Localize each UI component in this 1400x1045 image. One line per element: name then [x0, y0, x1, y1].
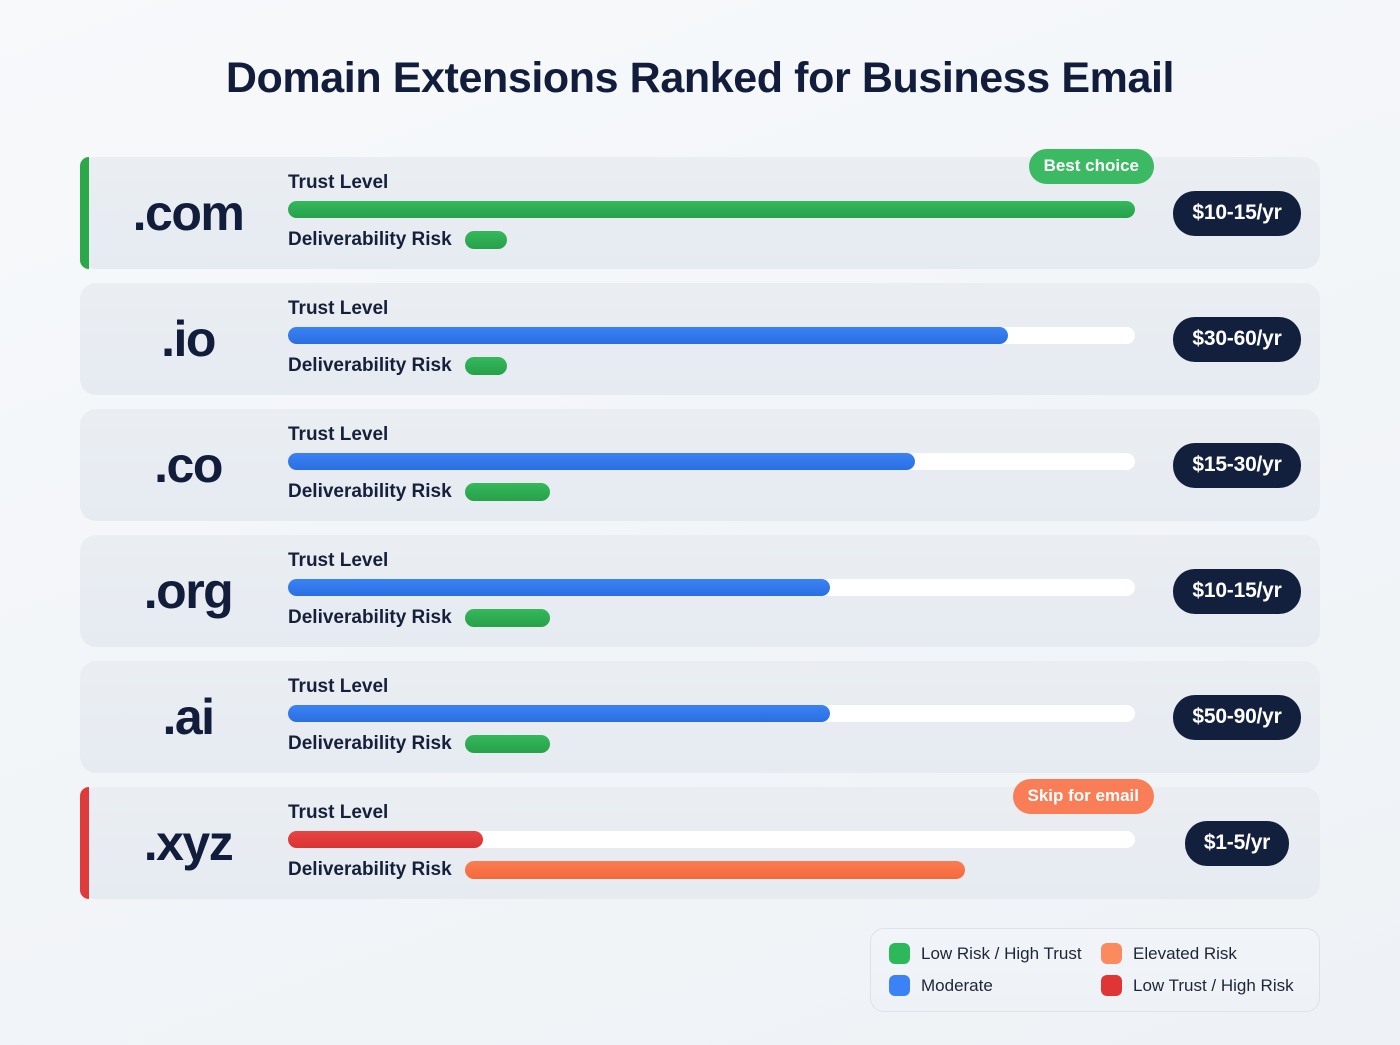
trust-level-track — [288, 705, 1135, 722]
deliverability-risk-label: Deliverability Risk — [288, 608, 452, 627]
trust-level-label: Trust Level — [288, 677, 1154, 696]
deliverability-risk-label: Deliverability Risk — [288, 482, 452, 501]
trust-level-label: Trust Level — [288, 425, 1154, 444]
domain-row: .io Trust Level Deliverability Risk $30-… — [80, 283, 1320, 395]
meters-group: Trust Level Deliverability Risk — [288, 283, 1154, 395]
legend-item: Elevated Risk — [1101, 943, 1301, 964]
price-wrap: $50-90/yr — [1154, 695, 1320, 740]
trust-level-track — [288, 327, 1135, 344]
legend-item-label: Moderate — [921, 977, 993, 994]
price-wrap: $10-15/yr — [1154, 191, 1320, 236]
deliverability-risk-fill — [465, 861, 965, 879]
trust-level-track — [288, 579, 1135, 596]
deliverability-risk-label: Deliverability Risk — [288, 356, 452, 375]
legend-box: Low Risk / High Trust Elevated Risk Mode… — [870, 928, 1320, 1012]
price-pill: $15-30/yr — [1173, 443, 1300, 488]
domain-row: .co Trust Level Deliverability Risk $15-… — [80, 409, 1320, 521]
infographic-page: Domain Extensions Ranked for Business Em… — [0, 0, 1400, 1045]
domain-rows-list: .com Trust Level Deliverability Risk Bes… — [80, 157, 1320, 913]
price-wrap: $30-60/yr — [1154, 317, 1320, 362]
meters-group: Trust Level Deliverability Risk — [288, 409, 1154, 521]
legend-item: Low Trust / High Risk — [1101, 975, 1301, 996]
domain-label: .com — [80, 188, 288, 238]
trust-level-track — [288, 831, 1135, 848]
legend-swatch-icon — [889, 943, 910, 964]
row-accent-stripe — [80, 157, 89, 269]
domain-label: .xyz — [80, 818, 288, 868]
deliverability-risk-fill — [465, 609, 550, 627]
deliverability-risk-label: Deliverability Risk — [288, 860, 452, 879]
trust-level-fill — [288, 201, 1135, 218]
trust-level-fill — [288, 453, 915, 470]
price-pill: $1-5/yr — [1185, 821, 1289, 866]
deliverability-risk-group: Deliverability Risk — [288, 734, 1154, 753]
domain-row: .com Trust Level Deliverability Risk Bes… — [80, 157, 1320, 269]
trust-level-track — [288, 201, 1135, 218]
domain-label: .io — [80, 314, 288, 364]
trust-level-label: Trust Level — [288, 299, 1154, 318]
deliverability-risk-label: Deliverability Risk — [288, 734, 452, 753]
price-wrap: $1-5/yr — [1154, 821, 1320, 866]
page-title: Domain Extensions Ranked for Business Em… — [0, 0, 1400, 102]
domain-row: .ai Trust Level Deliverability Risk $50-… — [80, 661, 1320, 773]
trust-level-fill — [288, 831, 483, 848]
price-wrap: $15-30/yr — [1154, 443, 1320, 488]
domain-row: .org Trust Level Deliverability Risk $10… — [80, 535, 1320, 647]
price-pill: $30-60/yr — [1173, 317, 1300, 362]
meters-group: Trust Level Deliverability Risk Skip for… — [288, 787, 1154, 899]
price-pill: $10-15/yr — [1173, 191, 1300, 236]
trust-level-fill — [288, 579, 830, 596]
domain-label: .org — [80, 566, 288, 616]
legend-swatch-icon — [1101, 943, 1122, 964]
legend-item: Low Risk / High Trust — [889, 943, 1089, 964]
legend-item: Moderate — [889, 975, 1089, 996]
deliverability-risk-fill — [465, 231, 507, 249]
meters-group: Trust Level Deliverability Risk — [288, 661, 1154, 773]
row-accent-stripe — [80, 787, 89, 899]
price-wrap: $10-15/yr — [1154, 569, 1320, 614]
deliverability-risk-group: Deliverability Risk — [288, 356, 1154, 375]
price-pill: $10-15/yr — [1173, 569, 1300, 614]
meters-group: Trust Level Deliverability Risk — [288, 535, 1154, 647]
deliverability-risk-group: Deliverability Risk — [288, 608, 1154, 627]
trust-level-label: Trust Level — [288, 551, 1154, 570]
domain-label: .co — [80, 440, 288, 490]
legend-item-label: Elevated Risk — [1133, 945, 1237, 962]
row-badge: Skip for email — [1013, 779, 1154, 814]
deliverability-risk-group: Deliverability Risk — [288, 230, 1154, 249]
deliverability-risk-fill — [465, 357, 507, 375]
row-badge: Best choice — [1029, 149, 1154, 184]
legend-swatch-icon — [889, 975, 910, 996]
deliverability-risk-group: Deliverability Risk — [288, 482, 1154, 501]
price-pill: $50-90/yr — [1173, 695, 1300, 740]
legend-item-label: Low Trust / High Risk — [1133, 977, 1294, 994]
legend-swatch-icon — [1101, 975, 1122, 996]
domain-label: .ai — [80, 692, 288, 742]
trust-level-track — [288, 453, 1135, 470]
trust-level-fill — [288, 705, 830, 722]
trust-level-fill — [288, 327, 1008, 344]
trust-level-label: Trust Level — [288, 173, 1154, 192]
deliverability-risk-group: Deliverability Risk — [288, 860, 1154, 879]
deliverability-risk-fill — [465, 735, 550, 753]
meters-group: Trust Level Deliverability Risk Best cho… — [288, 157, 1154, 269]
deliverability-risk-label: Deliverability Risk — [288, 230, 452, 249]
deliverability-risk-fill — [465, 483, 550, 501]
domain-row: .xyz Trust Level Deliverability Risk Ski… — [80, 787, 1320, 899]
legend-item-label: Low Risk / High Trust — [921, 945, 1082, 962]
